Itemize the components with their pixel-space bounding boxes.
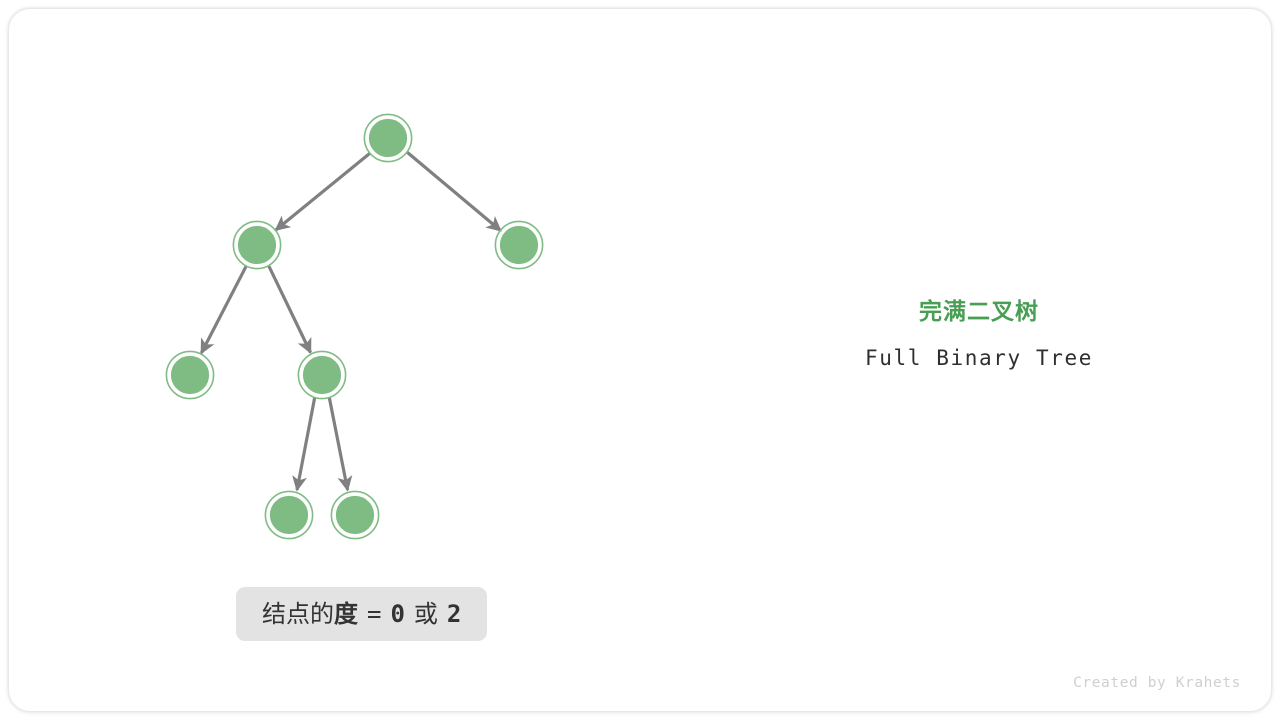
degree-label-part-7: 或 xyxy=(414,599,438,629)
tree-node-left-right[interactable] xyxy=(298,351,345,398)
diagram-canvas: 完满二叉树 Full Binary Tree 结点的 度 = 0 或 2 Cre… xyxy=(8,8,1272,712)
tree-node-left-left[interactable] xyxy=(166,351,213,398)
tree-node-leaf-right[interactable] xyxy=(331,491,378,538)
credit-text: Created by Krahets xyxy=(1073,675,1241,691)
tree-node-left[interactable] xyxy=(233,221,280,268)
caption-title: 完满二叉树 xyxy=(769,297,1189,327)
tree-edges xyxy=(201,152,500,490)
edge-n5-n7 xyxy=(329,398,347,490)
tree-node-right[interactable] xyxy=(495,221,542,268)
tree-node-leaf-left[interactable] xyxy=(265,491,312,538)
edge-n5-n6 xyxy=(297,398,315,490)
degree-label-part-3: = xyxy=(367,599,381,629)
caption-subtitle: Full Binary Tree xyxy=(769,344,1189,372)
degree-label-part-9: 2 xyxy=(447,599,461,629)
degree-label-part-0: 结点的 xyxy=(262,599,334,629)
degree-label-part-1: 度 xyxy=(334,599,358,629)
tree-nodes xyxy=(166,114,542,538)
degree-label-part-5: 0 xyxy=(390,599,404,629)
edge-n1-n3 xyxy=(407,152,501,231)
tree-node-root[interactable] xyxy=(364,114,411,161)
edge-n2-n5 xyxy=(269,266,311,352)
degree-label-pill: 结点的 度 = 0 或 2 xyxy=(236,587,487,641)
edge-n2-n4 xyxy=(201,266,246,353)
edge-n1-n2 xyxy=(276,153,370,230)
caption-block: 完满二叉树 Full Binary Tree xyxy=(769,297,1189,372)
